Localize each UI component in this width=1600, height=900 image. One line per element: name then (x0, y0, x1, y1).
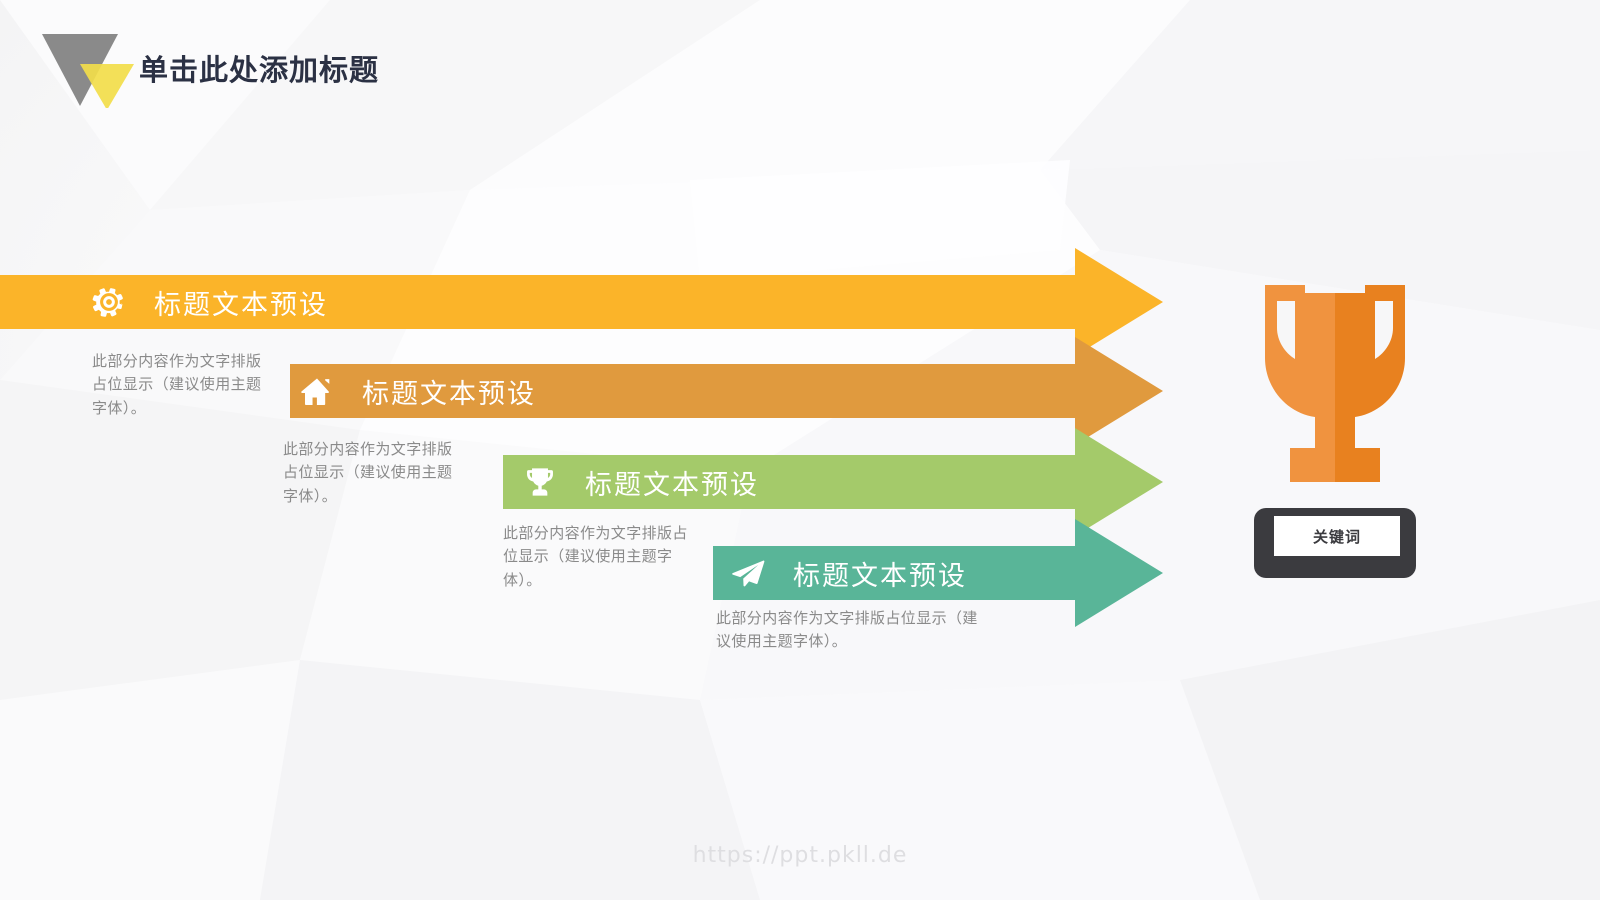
arrow-label-3: 标题文本预设 (585, 463, 759, 502)
arrow-label-4: 标题文本预设 (793, 554, 967, 593)
watermark: https://ppt.pkll.de (0, 843, 1600, 868)
trophy-plate-label: 关键词 (1274, 516, 1400, 556)
arrow-label-1: 标题文本预设 (154, 283, 328, 322)
paper-plane-icon (731, 556, 765, 590)
gear-icon (92, 285, 126, 319)
slide-header: 单击此处添加标题 (0, 0, 1600, 130)
description-1: 此部分内容作为文字排版占位显示（建议使用主题字体）。 (92, 350, 264, 420)
page-title: 单击此处添加标题 (139, 47, 379, 89)
trophy-icon (523, 465, 557, 499)
arrow-label-2: 标题文本预设 (362, 372, 536, 411)
double-triangle-logo (38, 28, 138, 108)
description-3: 此部分内容作为文字排版占位显示（建议使用主题字体）。 (503, 522, 688, 592)
description-4: 此部分内容作为文字排版占位显示（建议使用主题字体）。 (716, 607, 982, 654)
home-icon (300, 374, 334, 408)
slide-canvas: 单击此处添加标题 标题文本预设 (0, 0, 1600, 900)
description-2: 此部分内容作为文字排版占位显示（建议使用主题字体）。 (283, 438, 463, 508)
